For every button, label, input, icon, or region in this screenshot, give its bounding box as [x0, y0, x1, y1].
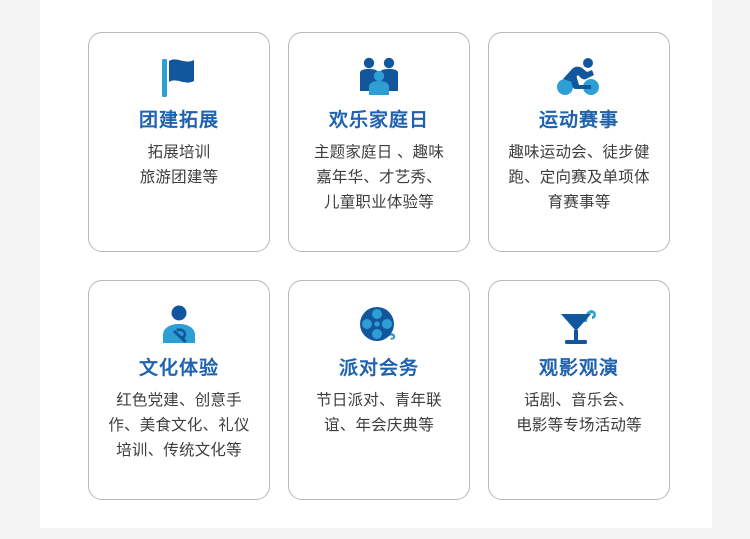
card-description: 红色党建、创意手 作、美食文化、礼仪 培训、传统文化等: [104, 388, 253, 463]
cocktail-icon: [554, 299, 604, 353]
family-icon: [354, 51, 404, 105]
culture-person-icon: [154, 299, 204, 353]
service-card[interactable]: 运动赛事 趣味运动会、徒步健 跑、定向赛及单项体 育赛事等: [488, 32, 670, 252]
card-title: 文化体验: [139, 357, 219, 382]
service-card[interactable]: 团建拓展 拓展培训 旅游团建等: [88, 32, 270, 252]
service-card[interactable]: 观影观演 话剧、音乐会、 电影等专场活动等: [488, 280, 670, 500]
service-card[interactable]: 派对会务 节日派对、青年联 谊、年会庆典等: [288, 280, 470, 500]
film-reel-icon: [354, 299, 404, 353]
card-description: 趣味运动会、徒步健 跑、定向赛及单项体 育赛事等: [504, 140, 653, 215]
card-title: 观影观演: [539, 357, 619, 382]
service-card[interactable]: 文化体验 红色党建、创意手 作、美食文化、礼仪 培训、传统文化等: [88, 280, 270, 500]
card-description: 拓展培训 旅游团建等: [136, 140, 223, 190]
service-card[interactable]: 欢乐家庭日 主题家庭日 、趣味 嘉年华、才艺秀、 儿童职业体验等: [288, 32, 470, 252]
flag-icon: [154, 51, 204, 105]
card-description: 主题家庭日 、趣味 嘉年华、才艺秀、 儿童职业体验等: [310, 140, 448, 215]
service-card-grid: 团建拓展 拓展培训 旅游团建等 欢乐家庭日 主题家庭日 、趣味 嘉年华、: [88, 32, 672, 500]
card-description: 话剧、音乐会、 电影等专场活动等: [512, 388, 646, 438]
cyclist-icon: [554, 51, 604, 105]
card-title: 团建拓展: [139, 109, 219, 134]
card-description: 节日派对、青年联 谊、年会庆典等: [312, 388, 446, 438]
page-root: 团建拓展 拓展培训 旅游团建等 欢乐家庭日 主题家庭日 、趣味 嘉年华、: [0, 0, 750, 539]
card-title: 运动赛事: [539, 109, 619, 134]
card-title: 派对会务: [339, 357, 419, 382]
card-title: 欢乐家庭日: [329, 109, 429, 134]
content-panel: 团建拓展 拓展培训 旅游团建等 欢乐家庭日 主题家庭日 、趣味 嘉年华、: [40, 0, 712, 528]
